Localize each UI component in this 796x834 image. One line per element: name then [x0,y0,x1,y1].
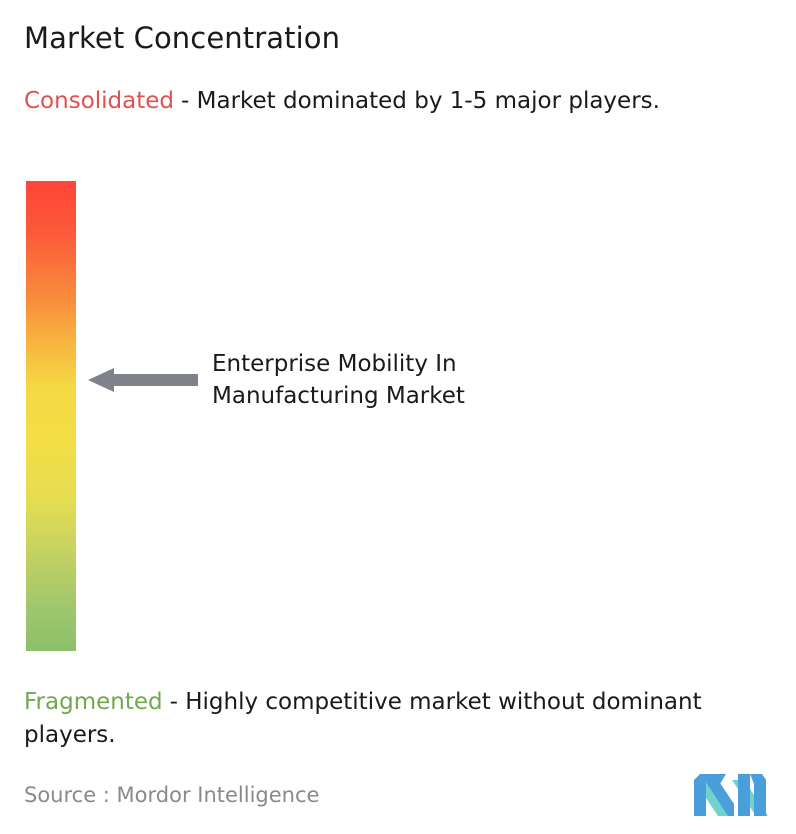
market-callout-label: Enterprise Mobility In Manufacturing Mar… [212,348,612,412]
page-title: Market Concentration [24,20,340,56]
legend-fragmented-keyword: Fragmented [24,689,163,715]
legend-fragmented: Fragmented- Highly competitive market wi… [24,686,784,752]
legend-consolidated: Consolidated- Market dominated by 1-5 ma… [24,85,764,118]
concentration-gradient-bar [26,181,76,651]
source-text: Source : Mordor Intelligence [24,781,319,809]
market-callout: Enterprise Mobility In Manufacturing Mar… [88,348,608,418]
legend-consolidated-keyword: Consolidated [24,88,174,114]
market-concentration-figure: Market Concentration Consolidated- Marke… [0,0,796,834]
legend-consolidated-description: - Market dominated by 1-5 major players. [181,88,660,114]
left-arrow-icon [88,368,198,392]
mordor-intelligence-logo-icon [692,772,768,816]
